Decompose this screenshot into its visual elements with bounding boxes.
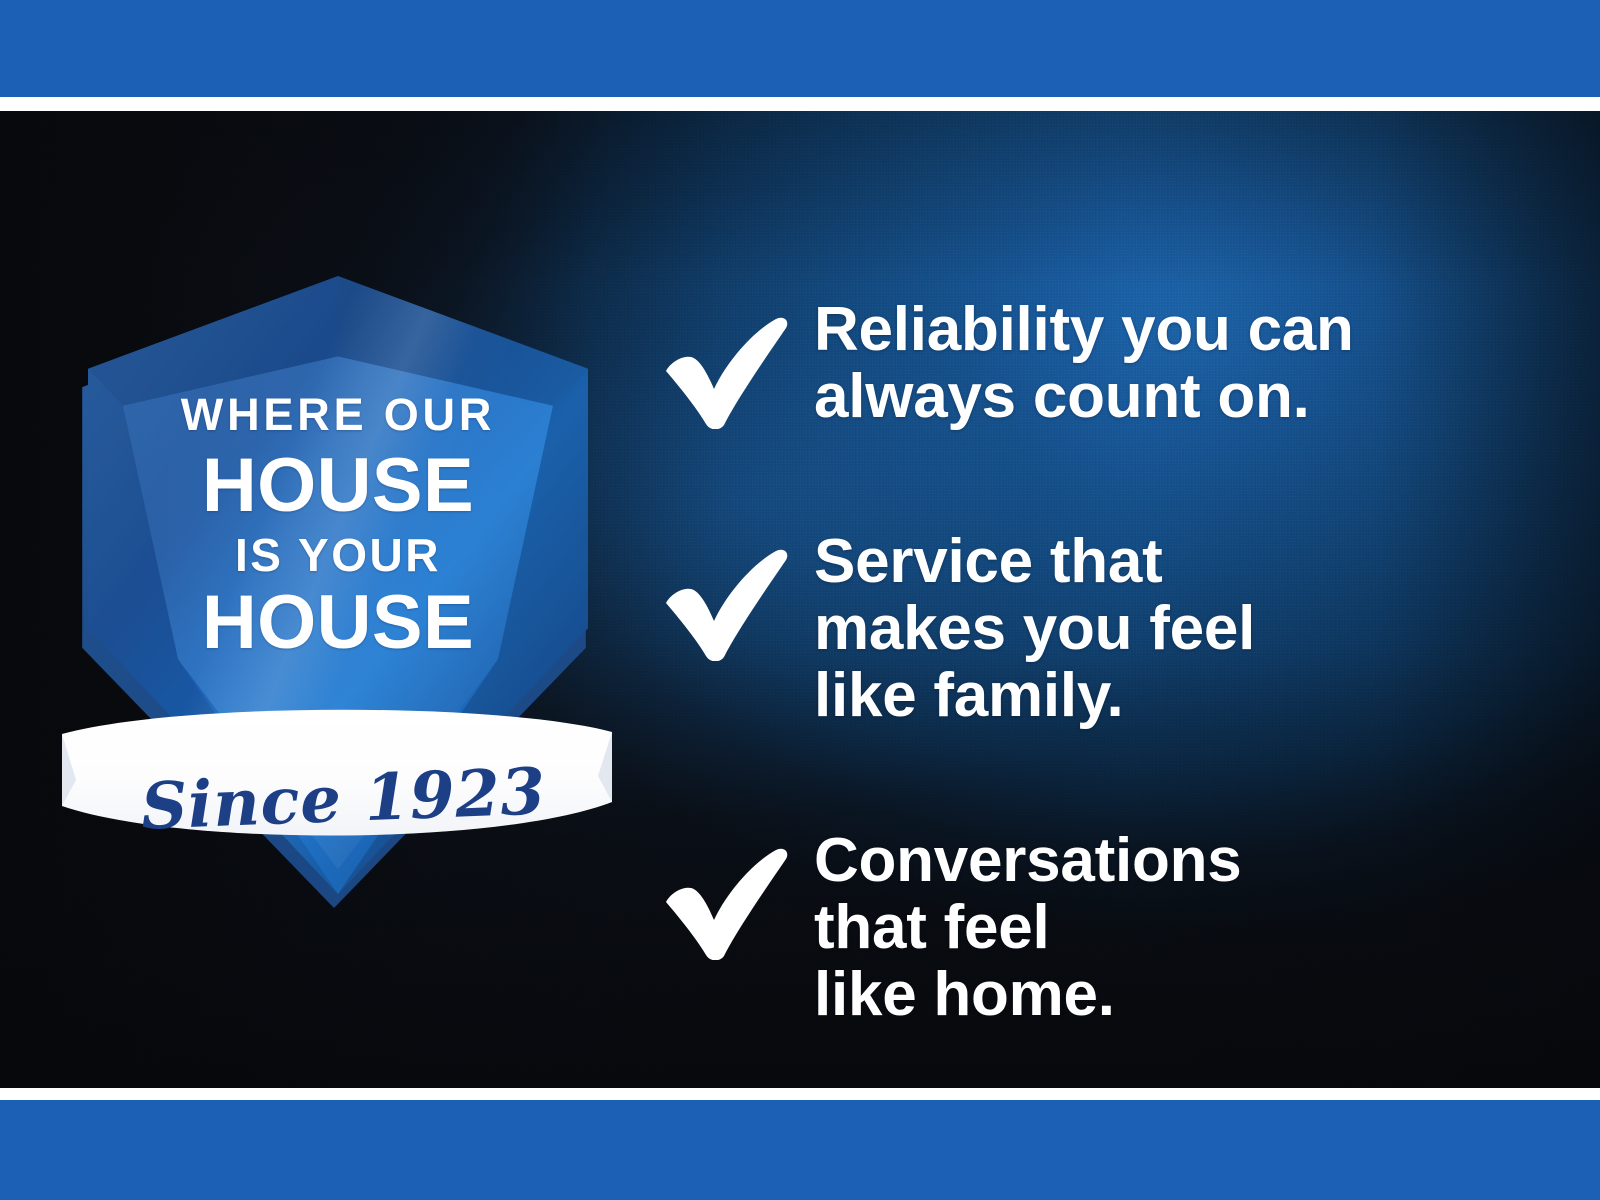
bottom-brand-bar [0, 1100, 1600, 1200]
checkmark-icon [660, 545, 792, 661]
promo-graphic-canvas: WHERE OUR HOUSE IS YOUR HOUSE [0, 0, 1600, 1200]
main-artwork-area: WHERE OUR HOUSE IS YOUR HOUSE [0, 111, 1600, 1088]
bullet2-line1: Service that [814, 529, 1255, 596]
top-white-divider [0, 97, 1600, 111]
bullet3-line2: that feel [814, 895, 1241, 962]
badge-line-3: IS YOUR [235, 532, 441, 578]
benefits-list: Reliability you can always count on. Ser… [660, 291, 1540, 1029]
bullet3-line3: like home. [814, 962, 1241, 1029]
top-brand-bar [0, 0, 1600, 97]
brand-badge: WHERE OUR HOUSE IS YOUR HOUSE [68, 276, 598, 916]
list-item: Reliability you can always count on. [660, 291, 1540, 431]
bullet1-line1: Reliability you can [814, 297, 1354, 364]
bullet2-line3: like family. [814, 663, 1255, 730]
list-item-text: Conversations that feel like home. [814, 822, 1241, 1029]
badge-line-1: WHERE OUR [181, 392, 495, 437]
badge-line-2: HOUSE [202, 448, 474, 524]
badge-line-4: HOUSE [202, 585, 474, 661]
since-year-text: Since 1923 [139, 754, 546, 844]
since-ribbon: Since 1923 [58, 706, 616, 858]
ribbon-script-wrap: Since 1923 [58, 706, 616, 858]
list-item-text: Reliability you can always count on. [814, 291, 1354, 431]
list-item: Conversations that feel like home. [660, 822, 1540, 1029]
checkmark-icon [660, 844, 792, 960]
list-item-text: Service that makes you feel like family. [814, 523, 1255, 730]
bullet1-line2: always count on. [814, 364, 1354, 431]
bottom-white-divider [0, 1088, 1600, 1100]
checkmark-icon [660, 313, 792, 429]
list-item: Service that makes you feel like family. [660, 523, 1540, 730]
bullet2-line2: makes you feel [814, 596, 1255, 663]
bullet3-line1: Conversations [814, 828, 1241, 895]
